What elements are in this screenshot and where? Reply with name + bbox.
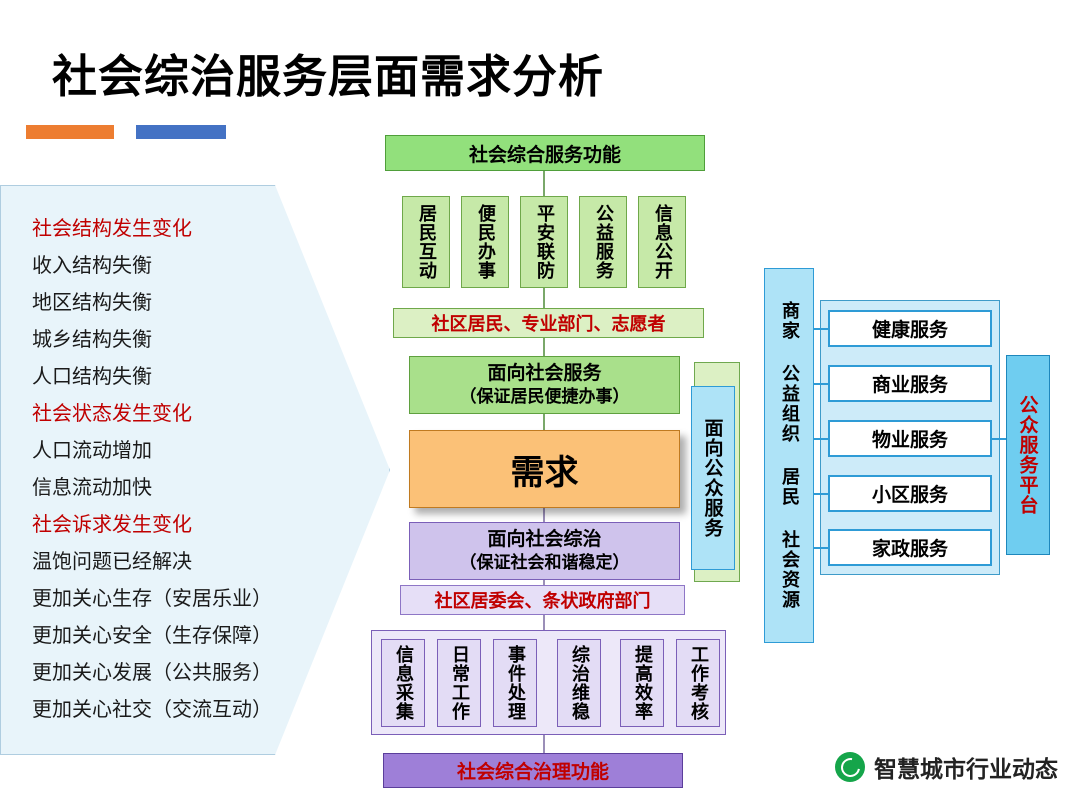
title-accent-bar — [26, 125, 226, 139]
governance-orientation-sub: （保证社会和谐稳定） — [460, 552, 630, 575]
service-item-box: 便民办事 — [461, 196, 509, 288]
service-box-housekeeping[interactable]: 家政服务 — [828, 529, 992, 566]
left-analysis-list: 社会结构发生变化 收入结构失衡 地区结构失衡 城乡结构失衡 人口结构失衡 社会状… — [32, 218, 332, 736]
list-item: 人口流动增加 — [32, 440, 332, 460]
accent-bar-blue — [136, 125, 226, 139]
governance-item-box: 工作考核 — [676, 639, 720, 727]
list-item: 人口结构失衡 — [32, 366, 332, 386]
brand-name: 智慧城市行业动态 — [874, 750, 1058, 784]
service-box-community[interactable]: 小区服务 — [828, 475, 992, 512]
governance-function-header: 社会综合治理功能 — [383, 753, 683, 788]
list-item: 更加关心安全（生存保障） — [32, 625, 332, 645]
list-item: 城乡结构失衡 — [32, 329, 332, 349]
list-item: 社会诉求发生变化 — [32, 514, 332, 534]
governance-item-box: 综治维稳 — [557, 639, 601, 727]
brand-footer: 智慧城市行业动态 — [835, 750, 1058, 784]
governance-item-box: 日常工作 — [437, 639, 481, 727]
service-box-property[interactable]: 物业服务 — [828, 420, 992, 457]
governance-item-box: 提高效率 — [620, 639, 664, 727]
need-box: 需求 — [409, 430, 680, 508]
service-item-box: 居民互动 — [402, 196, 450, 288]
service-orientation-title: 面向社会服务 — [487, 361, 601, 387]
list-item: 社会状态发生变化 — [32, 403, 332, 423]
connector-line — [814, 328, 828, 330]
list-item: 社会结构发生变化 — [32, 218, 332, 238]
public-service-platform-bar: 公众服务平台 — [1006, 355, 1050, 555]
connector-line — [814, 438, 828, 440]
connector-line — [543, 412, 545, 430]
service-orientation-sub: （保证居民便捷办事） — [460, 386, 630, 409]
connector-line — [543, 735, 545, 755]
governance-item-box: 事件处理 — [493, 639, 537, 727]
service-function-header: 社会综合服务功能 — [385, 135, 705, 171]
public-service-vertical-label: 面向公众服务 — [691, 386, 735, 570]
resources-vertical-label: 商家 公益组织 居民 社会资源 — [764, 268, 814, 643]
list-item: 更加关心生存（安居乐业） — [32, 588, 332, 608]
list-item: 更加关心社交（交流互动） — [32, 699, 332, 719]
wechat-circle-icon — [835, 752, 865, 782]
list-item: 更加关心发展（公共服务） — [32, 662, 332, 682]
service-box-commercial[interactable]: 商业服务 — [828, 365, 992, 402]
list-item: 收入结构失衡 — [32, 255, 332, 275]
list-item: 地区结构失衡 — [32, 292, 332, 312]
page-title: 社会综治服务层面需求分析 — [52, 40, 604, 105]
service-item-box: 公益服务 — [579, 196, 627, 288]
governance-orientation-title: 面向社会综治 — [487, 527, 601, 553]
service-item-box: 平安联防 — [520, 196, 568, 288]
list-item: 信息流动加快 — [32, 477, 332, 497]
connector-line — [543, 285, 545, 309]
service-box-health[interactable]: 健康服务 — [828, 310, 992, 347]
connector-line — [992, 438, 1006, 440]
governance-actors-tag: 社区居委会、条状政府部门 — [400, 585, 685, 615]
connector-line — [814, 383, 828, 385]
service-actors-tag: 社区居民、专业部门、志愿者 — [393, 308, 704, 338]
service-item-box: 信息公开 — [638, 196, 686, 288]
list-item: 温饱问题已经解决 — [32, 551, 332, 571]
governance-orientation-box: 面向社会综治 （保证社会和谐稳定） — [409, 522, 680, 580]
accent-bar-gap — [114, 125, 136, 139]
connector-line — [814, 547, 828, 549]
connector-line — [814, 493, 828, 495]
connector-line — [543, 335, 545, 357]
service-orientation-box: 面向社会服务 （保证居民便捷办事） — [409, 356, 680, 414]
accent-bar-orange — [26, 125, 114, 139]
governance-item-box: 信息采集 — [381, 639, 425, 727]
